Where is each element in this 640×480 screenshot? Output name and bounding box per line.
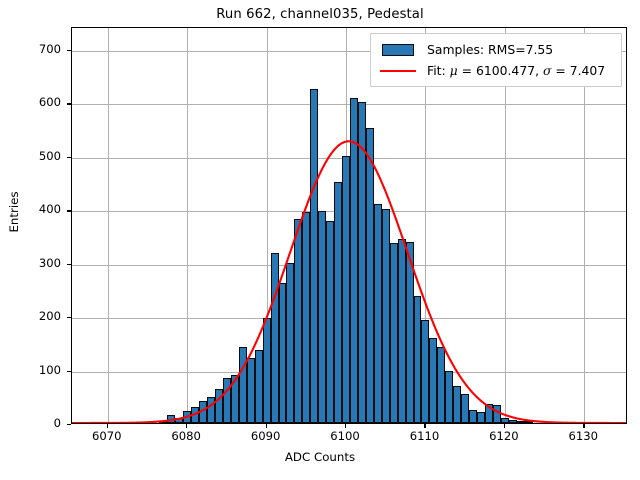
x-tick-mark xyxy=(186,424,187,428)
legend: Samples: RMS=7.55 Fit: μ = 6100.477, σ =… xyxy=(370,33,622,87)
fit-curve-path xyxy=(72,141,626,423)
x-tick-label: 6090 xyxy=(231,429,301,443)
y-tick-mark xyxy=(67,157,71,158)
legend-item-fit: Fit: μ = 6100.477, σ = 7.407 xyxy=(378,60,615,81)
y-tick-mark xyxy=(67,424,71,425)
x-tick-mark xyxy=(583,424,584,428)
y-tick-label: 100 xyxy=(1,363,61,377)
x-tick-label: 6070 xyxy=(72,429,142,443)
x-tick-mark xyxy=(345,424,346,428)
y-tick-mark xyxy=(67,210,71,211)
x-tick-mark xyxy=(266,424,267,428)
legend-item-samples: Samples: RMS=7.55 xyxy=(378,39,615,60)
gaussian-fit-curve xyxy=(72,28,626,423)
y-axis-label: Entries xyxy=(7,112,21,312)
y-tick-mark xyxy=(67,103,71,104)
legend-label-fit: Fit: μ = 6100.477, σ = 7.407 xyxy=(427,63,605,78)
x-axis-label: ADC Counts xyxy=(0,450,640,464)
y-tick-label: 600 xyxy=(1,95,61,109)
y-tick-label: 0 xyxy=(1,416,61,430)
x-tick-label: 6100 xyxy=(310,429,380,443)
x-tick-label: 6080 xyxy=(151,429,221,443)
y-tick-mark xyxy=(67,371,71,372)
page-title: Run 662, channel035, Pedestal xyxy=(0,7,640,22)
x-tick-mark xyxy=(424,424,425,428)
x-tick-mark xyxy=(107,424,108,428)
legend-swatch-bar-icon xyxy=(378,43,418,57)
x-tick-label: 6130 xyxy=(548,429,618,443)
x-tick-mark xyxy=(504,424,505,428)
x-tick-label: 6120 xyxy=(469,429,539,443)
figure-canvas: Run 662, channel035, Pedestal 6070608060… xyxy=(0,0,640,480)
legend-label-samples: Samples: RMS=7.55 xyxy=(427,42,553,57)
y-tick-mark xyxy=(67,317,71,318)
x-tick-label: 6110 xyxy=(389,429,459,443)
legend-swatch-line-icon xyxy=(378,64,418,78)
y-tick-mark xyxy=(67,50,71,51)
y-tick-mark xyxy=(67,264,71,265)
y-tick-label: 700 xyxy=(1,42,61,56)
